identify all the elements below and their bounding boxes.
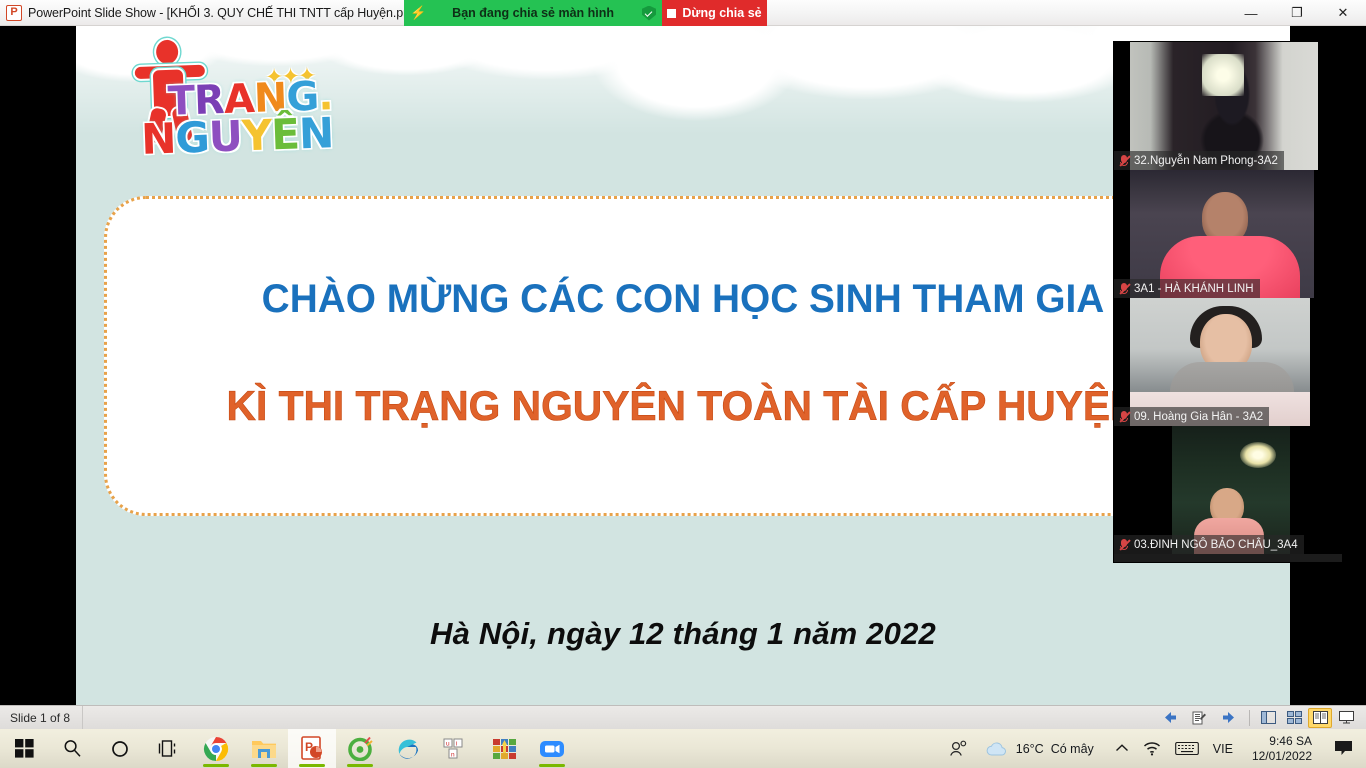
svg-text:u: u — [446, 740, 450, 747]
status-bar-controls — [1155, 707, 1366, 729]
participant-name: 03.ĐINH NGÔ BẢO CHÂU_3A4 — [1134, 539, 1298, 551]
mic-muted-icon — [1119, 154, 1129, 168]
logo-word-nguyen: NGUYÊN — [140, 112, 333, 161]
show-hidden-icons-button[interactable] — [1108, 729, 1136, 768]
cortana-icon[interactable] — [96, 729, 144, 768]
notification-icon[interactable] — [1324, 729, 1366, 768]
slide-counter: Slide 1 of 8 — [0, 706, 83, 729]
participant-tile[interactable]: 3A1 - HÀ KHÁNH LINH — [1114, 170, 1342, 298]
wifi-icon[interactable] — [1136, 729, 1168, 768]
keyboard-icon[interactable] — [1168, 729, 1206, 768]
slide-footer-date: Hà Nội, ngày 12 tháng 1 năm 2022 — [76, 616, 1290, 652]
start-icon[interactable] — [0, 729, 48, 768]
trang-nguyen-logo: ✦✦✦ TRANG. NGUYÊN — [114, 30, 334, 177]
weather-widget[interactable]: 16°C Có mây — [975, 729, 1108, 768]
winrar-icon[interactable] — [480, 729, 528, 768]
window-title: PowerPoint Slide Show - [KHỐI 3. QUY CHẾ… — [28, 6, 430, 20]
mic-muted-icon — [1119, 282, 1129, 296]
participant-name-bar: 32.Nguyễn Nam Phong-3A2 — [1114, 151, 1284, 170]
windows-taskbar: P uin 16°C — [0, 729, 1366, 768]
slide-sorter-view-button[interactable] — [1282, 708, 1306, 728]
powerpoint-icon[interactable]: P — [288, 729, 336, 768]
unikey-icon[interactable]: uin — [432, 729, 480, 768]
clock-date: 12/01/2022 — [1252, 749, 1312, 764]
task-view-icon[interactable] — [144, 729, 192, 768]
slide-1[interactable]: ✦✦✦ TRANG. NGUYÊN CHÀO MỪNG CÁC CON HỌC … — [76, 26, 1290, 705]
svg-text:n: n — [451, 751, 455, 758]
mic-muted-icon — [1119, 538, 1129, 552]
participant-name: 09. Hoàng Gia Hân - 3A2 — [1134, 411, 1263, 423]
stop-square-icon — [667, 9, 676, 18]
zoom-participant-filmstrip[interactable]: 32.Nguyễn Nam Phong-3A2 3A1 - HÀ KHÁNH L… — [1114, 42, 1342, 562]
lightning-icon: ⚡ — [410, 5, 426, 21]
powerpoint-status-bar: Slide 1 of 8 — [0, 705, 1366, 729]
participant-name-bar: 09. Hoàng Gia Hân - 3A2 — [1114, 407, 1269, 426]
green-app-icon[interactable] — [336, 729, 384, 768]
restore-button[interactable]: ❐ — [1274, 0, 1320, 26]
slide-heading-welcome: CHÀO MỪNG CÁC CON HỌC SINH THAM GIA — [124, 277, 1241, 322]
shield-icon — [642, 6, 656, 21]
annotation-button[interactable] — [1185, 707, 1213, 729]
input-language-indicator[interactable]: VIE — [1206, 729, 1240, 768]
participant-tile[interactable]: 32.Nguyễn Nam Phong-3A2 — [1114, 42, 1342, 170]
weather-temperature: 16°C — [1016, 742, 1044, 756]
svg-text:i: i — [456, 740, 457, 747]
window-title-bar: P PowerPoint Slide Show - [KHỐI 3. QUY C… — [0, 0, 1366, 26]
close-button[interactable]: ✕ — [1320, 0, 1366, 26]
minimize-button[interactable]: — — [1228, 0, 1274, 26]
clock-time: 9:46 SA — [1269, 734, 1312, 749]
participant-name: 32.Nguyễn Nam Phong-3A2 — [1134, 155, 1278, 167]
clock[interactable]: 9:46 SA 12/01/2022 — [1240, 729, 1324, 768]
stop-share-label: Dừng chia sẻ — [682, 6, 761, 20]
next-slide-button[interactable] — [1215, 707, 1243, 729]
weather-description: Có mây — [1051, 742, 1094, 756]
chrome-icon[interactable] — [192, 729, 240, 768]
reading-view-button[interactable] — [1308, 708, 1332, 728]
normal-view-button[interactable] — [1256, 708, 1280, 728]
screen: P PowerPoint Slide Show - [KHỐI 3. QUY C… — [0, 0, 1366, 768]
window-controls: — ❐ ✕ — [1228, 0, 1366, 26]
edge-icon[interactable] — [384, 729, 432, 768]
powerpoint-icon: P — [6, 5, 22, 21]
file-explorer-icon[interactable] — [240, 729, 288, 768]
slide-content-box: CHÀO MỪNG CÁC CON HỌC SINH THAM GIA KÌ T… — [104, 196, 1262, 516]
participant-tile[interactable]: 03.ĐINH NGÔ BẢO CHÂU_3A4 — [1114, 426, 1342, 554]
people-icon[interactable] — [942, 729, 975, 768]
participant-name: 3A1 - HÀ KHÁNH LINH — [1134, 283, 1254, 295]
divider — [1249, 710, 1250, 726]
slideshow-canvas[interactable]: ✦✦✦ TRANG. NGUYÊN CHÀO MỪNG CÁC CON HỌC … — [0, 26, 1366, 705]
cloud-icon — [985, 740, 1009, 758]
previous-slide-button[interactable] — [1155, 707, 1183, 729]
slide-heading-exam: KÌ THI TRẠNG NGUYÊN TOÀN TÀI CẤP HUYỆN — [124, 382, 1241, 430]
participant-name-bar: 3A1 - HÀ KHÁNH LINH — [1114, 279, 1260, 298]
screen-share-status-bar: ⚡ Bạn đang chia sẻ màn hình — [404, 0, 662, 26]
system-tray: 16°C Có mây VIE 9:46 SA 12/01/2022 — [942, 729, 1366, 768]
participant-name-bar: 03.ĐINH NGÔ BẢO CHÂU_3A4 — [1114, 535, 1304, 554]
search-icon[interactable] — [48, 729, 96, 768]
mic-muted-icon — [1119, 410, 1129, 424]
participant-tile[interactable]: 09. Hoàng Gia Hân - 3A2 — [1114, 298, 1342, 426]
share-status-label: Bạn đang chia sẻ màn hình — [428, 6, 638, 20]
slide-show-view-button[interactable] — [1334, 708, 1358, 728]
stop-share-button[interactable]: Dừng chia sẻ — [662, 0, 767, 26]
zoom-icon[interactable] — [528, 729, 576, 768]
